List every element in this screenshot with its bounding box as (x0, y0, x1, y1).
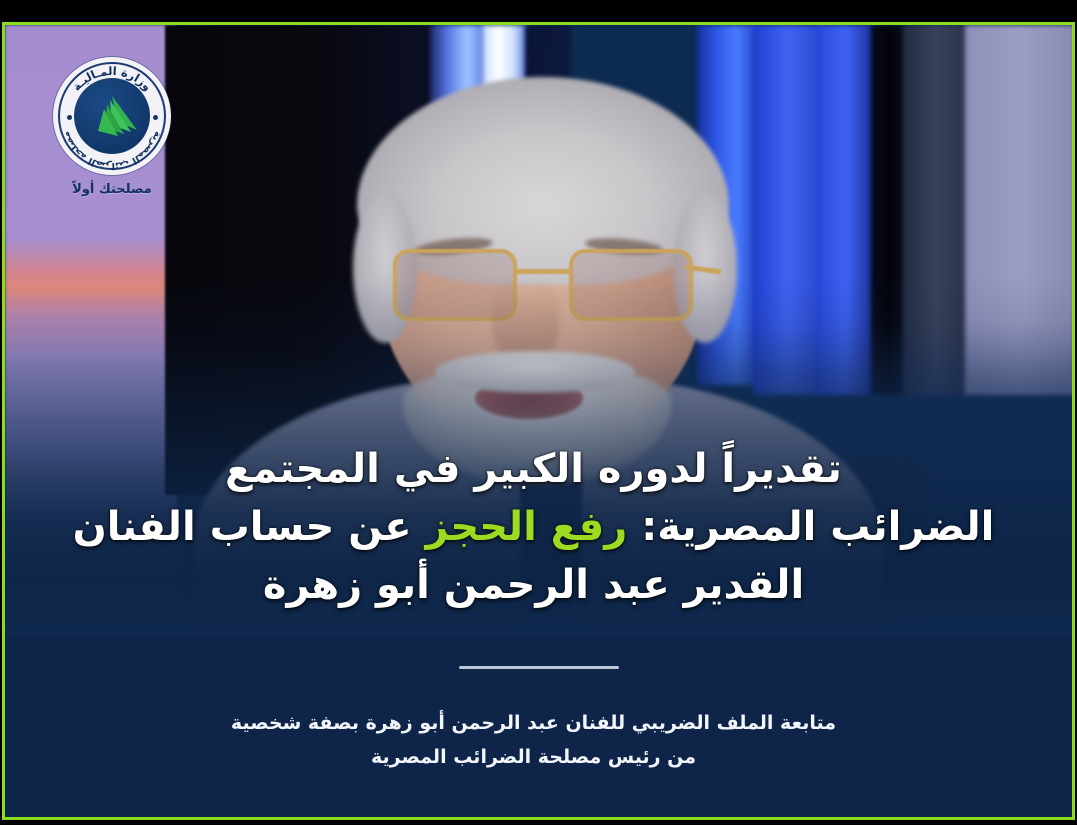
letterbox-bar-top (0, 0, 1077, 22)
news-graphic-card: وزارة المـاليـة مصلحة الضرائب المصرية مص… (0, 0, 1077, 825)
caption-line-2: من رئيس مصلحة الضرائب المصرية (60, 740, 1007, 774)
studio-photo-stage: وزارة المـاليـة مصلحة الضرائب المصرية مص… (5, 25, 1072, 817)
divider-rule (459, 666, 619, 669)
caption-line-1: متابعة الملف الضريبي للفنان عبد الرحمن أ… (60, 706, 1007, 740)
logo-tagline: مصلحتك أولاً (43, 182, 181, 197)
headline: تقديراً لدوره الكبير في المجتمع الضرائب … (0, 440, 1067, 614)
headline-line-3: القدير عبد الرحمن أبو زهرة (34, 556, 1033, 614)
caption: متابعة الملف الضريبي للفنان عبد الرحمن أ… (0, 706, 1067, 774)
eyeglass-bridge (515, 269, 571, 274)
headline-highlight: رفع الحجز (426, 504, 628, 550)
green-chevron-emblem-icon (74, 78, 150, 154)
headline-line-1: تقديراً لدوره الكبير في المجتمع (34, 440, 1033, 498)
letterbox-bar-bottom (0, 820, 1077, 825)
ministry-logo: وزارة المـاليـة مصلحة الضرائب المصرية مص… (43, 57, 181, 197)
headline-line-2-suffix: عن حساب الفنان (73, 504, 426, 550)
headline-line-2-prefix: الضرائب المصرية: (627, 504, 994, 550)
tax-authority-seal-icon: وزارة المـاليـة مصلحة الضرائب المصرية (53, 57, 171, 175)
headline-line-2: الضرائب المصرية: رفع الحجز عن حساب الفنا… (34, 498, 1033, 556)
